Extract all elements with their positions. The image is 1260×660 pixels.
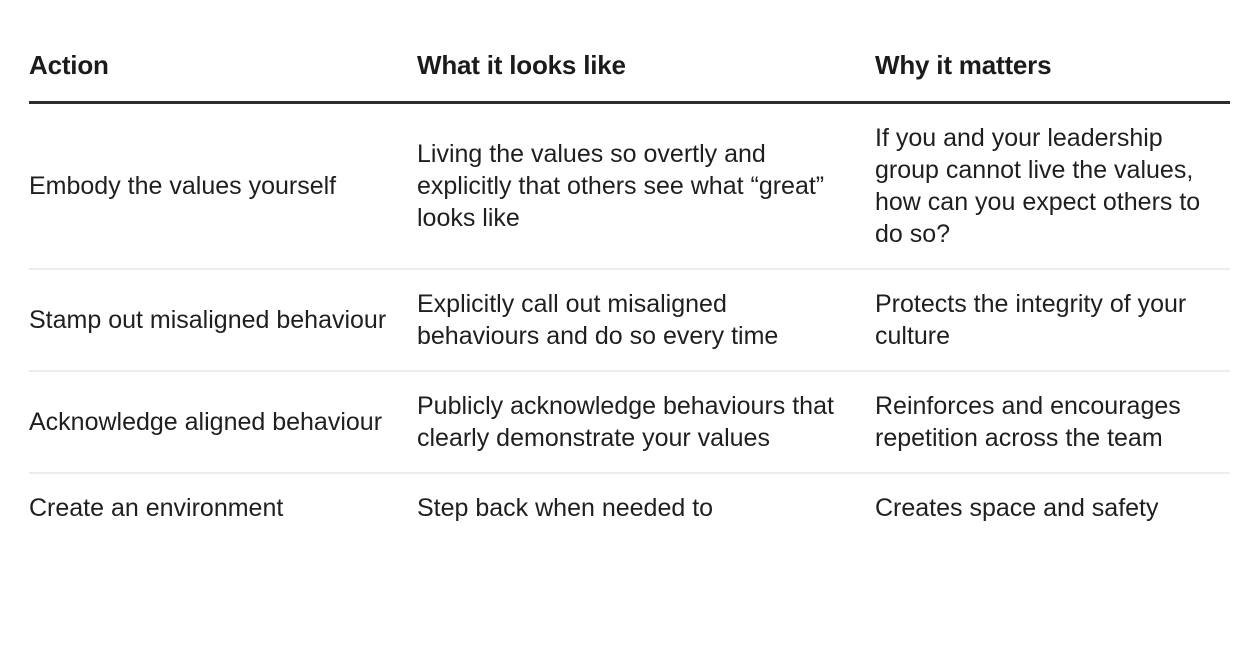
table-row: Embody the values yourself Living the va…: [29, 103, 1230, 270]
cell-looks-text: Living the values so overtly and explici…: [417, 138, 835, 234]
cell-looks-text: Publicly acknowledge behaviours that cle…: [417, 390, 835, 454]
column-header-why-it-matters: Why it matters: [875, 50, 1230, 103]
column-header-what-it-looks-like: What it looks like: [417, 50, 875, 103]
cell-matters-text: Reinforces and encourages repetition acr…: [875, 390, 1230, 454]
cell-why-it-matters: If you and your leadership group cannot …: [875, 103, 1230, 270]
cell-looks-text: Step back when needed to: [417, 492, 835, 524]
cell-why-it-matters: Protects the integrity of your culture: [875, 269, 1230, 371]
table-row: Stamp out misaligned behaviour Explicitl…: [29, 269, 1230, 371]
table-body: Embody the values yourself Living the va…: [29, 103, 1230, 525]
cell-what-it-looks-like: Living the values so overtly and explici…: [417, 103, 875, 270]
values-action-table: Action What it looks like Why it matters…: [29, 50, 1230, 524]
cell-matters-text: Protects the integrity of your culture: [875, 288, 1230, 352]
table-row: Acknowledge aligned behaviour Publicly a…: [29, 371, 1230, 473]
cell-matters-text: Creates space and safety: [875, 492, 1230, 524]
cell-what-it-looks-like: Explicitly call out misaligned behaviour…: [417, 269, 875, 371]
cell-what-it-looks-like: Publicly acknowledge behaviours that cle…: [417, 371, 875, 473]
cell-action-text: Stamp out misaligned behaviour: [29, 304, 387, 336]
document-page: Action What it looks like Why it matters…: [0, 0, 1260, 660]
cell-action: Embody the values yourself: [29, 103, 417, 270]
column-header-action: Action: [29, 50, 417, 103]
cell-action: Acknowledge aligned behaviour: [29, 371, 417, 473]
cell-action-text: Embody the values yourself: [29, 170, 387, 202]
cell-what-it-looks-like: Step back when needed to: [417, 473, 875, 524]
cell-action: Stamp out misaligned behaviour: [29, 269, 417, 371]
cell-why-it-matters: Creates space and safety: [875, 473, 1230, 524]
cell-action-text: Acknowledge aligned behaviour: [29, 406, 387, 438]
cell-action: Create an environment: [29, 473, 417, 524]
table-header: Action What it looks like Why it matters: [29, 50, 1230, 103]
table-row: Create an environment Step back when nee…: [29, 473, 1230, 524]
cell-action-text: Create an environment: [29, 492, 387, 524]
cell-looks-text: Explicitly call out misaligned behaviour…: [417, 288, 835, 352]
cell-why-it-matters: Reinforces and encourages repetition acr…: [875, 371, 1230, 473]
cell-matters-text: If you and your leadership group cannot …: [875, 122, 1230, 250]
table-header-row: Action What it looks like Why it matters: [29, 50, 1230, 103]
